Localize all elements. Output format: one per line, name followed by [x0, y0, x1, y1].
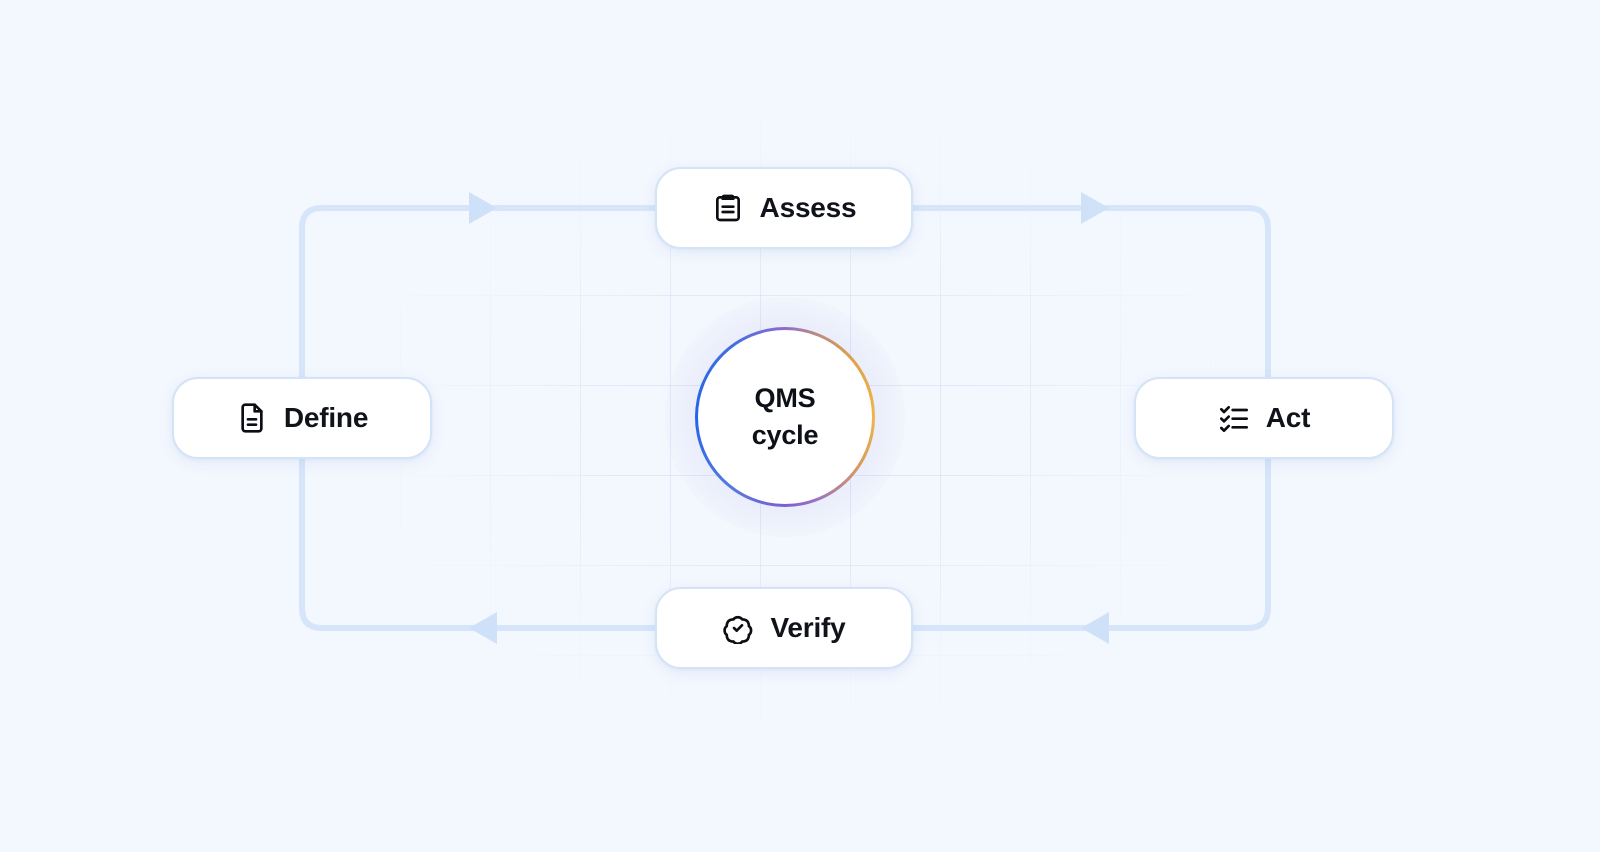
node-verify[interactable]: Verify [655, 587, 913, 669]
clipboard-list-icon [712, 192, 744, 224]
badge-check-icon [722, 612, 754, 644]
list-checks-icon [1218, 402, 1250, 434]
hub-title-line2: cycle [752, 419, 819, 453]
hub-gradient-ring: QMS cycle [695, 327, 875, 507]
arrow-right-icon-top-right [1081, 192, 1109, 224]
node-define-label: Define [284, 402, 368, 434]
diagram-canvas: Assess Define Act [0, 0, 1600, 852]
node-verify-label: Verify [770, 612, 845, 644]
node-assess[interactable]: Assess [655, 167, 913, 249]
node-define[interactable]: Define [172, 377, 432, 459]
arrow-left-icon-bottom-right [1081, 612, 1109, 644]
file-text-icon [236, 402, 268, 434]
arrow-right-icon-top-left [469, 192, 497, 224]
node-act-label: Act [1266, 402, 1311, 434]
hub-inner: QMS cycle [698, 330, 872, 504]
qms-cycle-hub[interactable]: QMS cycle [695, 327, 875, 507]
hub-title-line1: QMS [755, 382, 816, 416]
node-act[interactable]: Act [1134, 377, 1394, 459]
node-assess-label: Assess [760, 192, 857, 224]
arrow-left-icon-bottom-left [469, 612, 497, 644]
